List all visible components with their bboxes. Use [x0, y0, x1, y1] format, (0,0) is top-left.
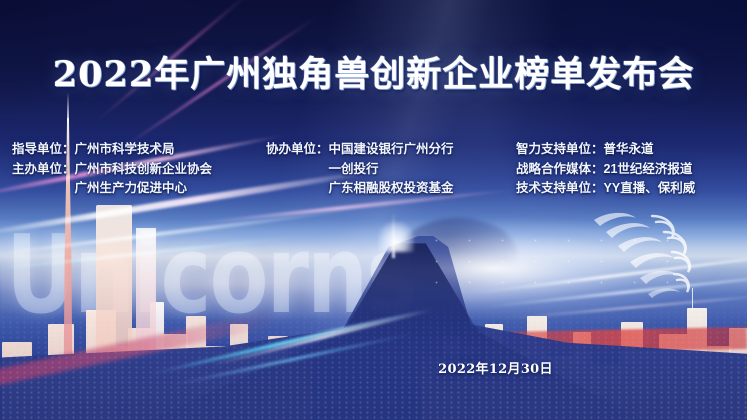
page-title: 2022年广州独角兽创新企业榜单发布会: [0, 46, 747, 97]
vanishing-point-beam: [392, 212, 395, 258]
sponsor-value: YY直播、保利威: [604, 179, 696, 199]
sponsor-line: 指导单位： 广州市科学技术局: [12, 140, 266, 160]
sponsor-label: 技术支持单位：: [516, 179, 604, 199]
sponsor-value: 一创投行: [329, 160, 379, 180]
sponsor-line: 智力支持单位： 普华永道: [516, 140, 695, 160]
event-poster: Unicorns: [0, 0, 747, 420]
sponsor-value: 普华永道: [604, 140, 654, 160]
event-date: 2022年12月30日: [0, 358, 747, 377]
sponsor-value: 21世纪经济报道: [604, 160, 693, 180]
sponsor-label: 智力支持单位：: [516, 140, 604, 160]
sponsor-line: 协办单位： 中国建设银行广州分行: [266, 140, 516, 160]
star-field: [420, 230, 680, 300]
sponsor-credits: 指导单位： 广州市科学技术局 主办单位： 广州市科技创新企业协会 主办单位： 广…: [0, 140, 747, 199]
sponsor-line: 技术支持单位： YY直播、保利威: [516, 179, 695, 199]
vanishing-point-glow: [378, 222, 414, 252]
sponsor-label: 战略合作媒体：: [516, 160, 604, 180]
sponsor-column-guidance-host: 指导单位： 广州市科学技术局 主办单位： 广州市科技创新企业协会 主办单位： 广…: [12, 140, 266, 199]
sponsor-line: 协办单位： 一创投行: [266, 160, 516, 180]
sponsor-column-support: 智力支持单位： 普华永道 战略合作媒体： 21世纪经济报道 技术支持单位： YY…: [516, 140, 695, 199]
sponsor-value: 广州市科学技术局: [75, 140, 175, 160]
sponsor-label: 指导单位：: [12, 140, 75, 160]
sponsor-label: 协办单位：: [266, 140, 329, 160]
sponsor-line: 战略合作媒体： 21世纪经济报道: [516, 160, 695, 180]
sponsor-value: 广东相融股权投资基金: [329, 179, 454, 199]
sponsor-column-cohost: 协办单位： 中国建设银行广州分行 协办单位： 一创投行 协办单位： 广东相融股权…: [266, 140, 516, 199]
sponsor-line: 协办单位： 广东相融股权投资基金: [266, 179, 516, 199]
sponsor-value: 中国建设银行广州分行: [329, 140, 454, 160]
sponsor-label: 主办单位：: [12, 160, 75, 180]
sponsor-line: 主办单位： 广州生产力促进中心: [12, 179, 266, 199]
event-date-text: 2022年12月30日: [438, 358, 553, 377]
sponsor-line: 主办单位： 广州市科技创新企业协会: [12, 160, 266, 180]
sponsor-value: 广州生产力促进中心: [75, 179, 188, 199]
sponsor-value: 广州市科技创新企业协会: [75, 160, 213, 180]
